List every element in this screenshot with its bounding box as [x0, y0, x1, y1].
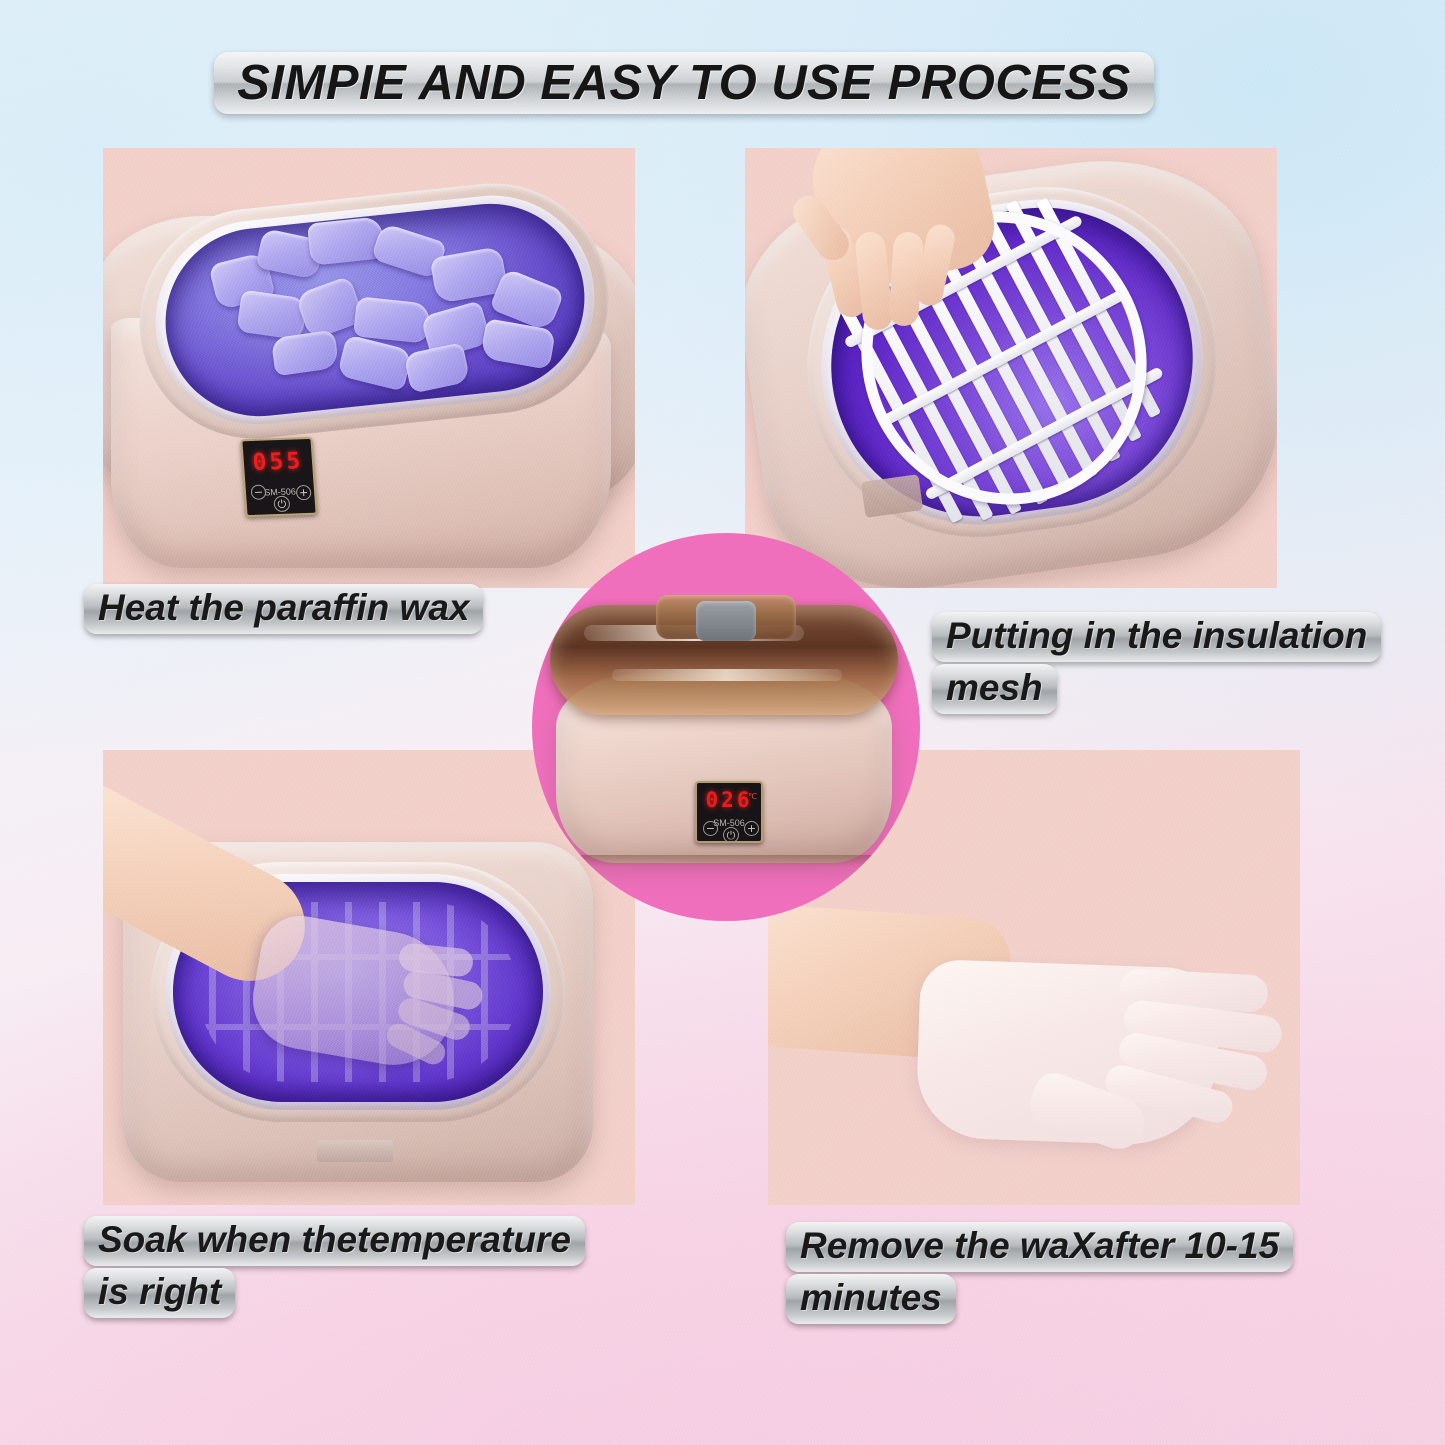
base-shadow [572, 855, 876, 867]
step-image-insulation-mesh [745, 148, 1277, 588]
step-image-heat-wax: 055 SM-506 − ⏻ + [103, 148, 635, 588]
page-title-banner: SIMPIE AND EASY TO USE PROCESS [214, 52, 1154, 114]
caption-line: Remove the waXafter 10-15 [786, 1222, 1293, 1272]
step-caption-insulation-mesh: Putting in the insulation mesh [932, 612, 1381, 714]
caption-line: minutes [786, 1274, 956, 1324]
caption-line: Soak when thetemperature [84, 1216, 585, 1266]
caption-line: mesh [932, 664, 1057, 714]
step-caption-heat-wax: Heat the paraffin wax [84, 584, 483, 634]
caption-line: Putting in the insulation [932, 612, 1381, 662]
lid-highlight-lower [612, 669, 842, 681]
control-panel[interactable]: 026 ℃ SM-506 − ⏻ + [695, 781, 763, 843]
minus-button[interactable]: − [703, 821, 718, 836]
wax-chunk [307, 216, 385, 266]
step-caption-remove-wax: Remove the waXafter 10-15 minutes [786, 1222, 1293, 1324]
power-button[interactable]: ⏻ [273, 496, 290, 513]
caption-line: is right [84, 1268, 235, 1318]
plus-button[interactable]: + [744, 821, 759, 836]
lid-handle-grip[interactable] [696, 601, 756, 641]
power-button[interactable]: ⏻ [723, 827, 739, 843]
wax-chunk [353, 296, 431, 344]
infographic-page: SIMPIE AND EASY TO USE PROCESS 055 SM-50… [0, 0, 1445, 1445]
control-panel[interactable]: 055 SM-506 − ⏻ + [240, 437, 317, 517]
wax-chunk [236, 290, 307, 341]
front-vent [317, 1140, 393, 1162]
caption-line: Heat the paraffin wax [84, 584, 483, 634]
step-caption-soak: Soak when thetemperature is right [84, 1216, 585, 1318]
temperature-unit-label: ℃ [748, 792, 757, 801]
center-product-inset: 026 ℃ SM-506 − ⏻ + [532, 533, 920, 921]
minus-button[interactable]: − [250, 484, 266, 499]
temperature-display: 026 [706, 790, 753, 811]
plus-button[interactable]: + [296, 485, 312, 500]
page-title: SIMPIE AND EASY TO USE PROCESS [237, 55, 1131, 111]
temperature-display: 055 [252, 450, 304, 475]
